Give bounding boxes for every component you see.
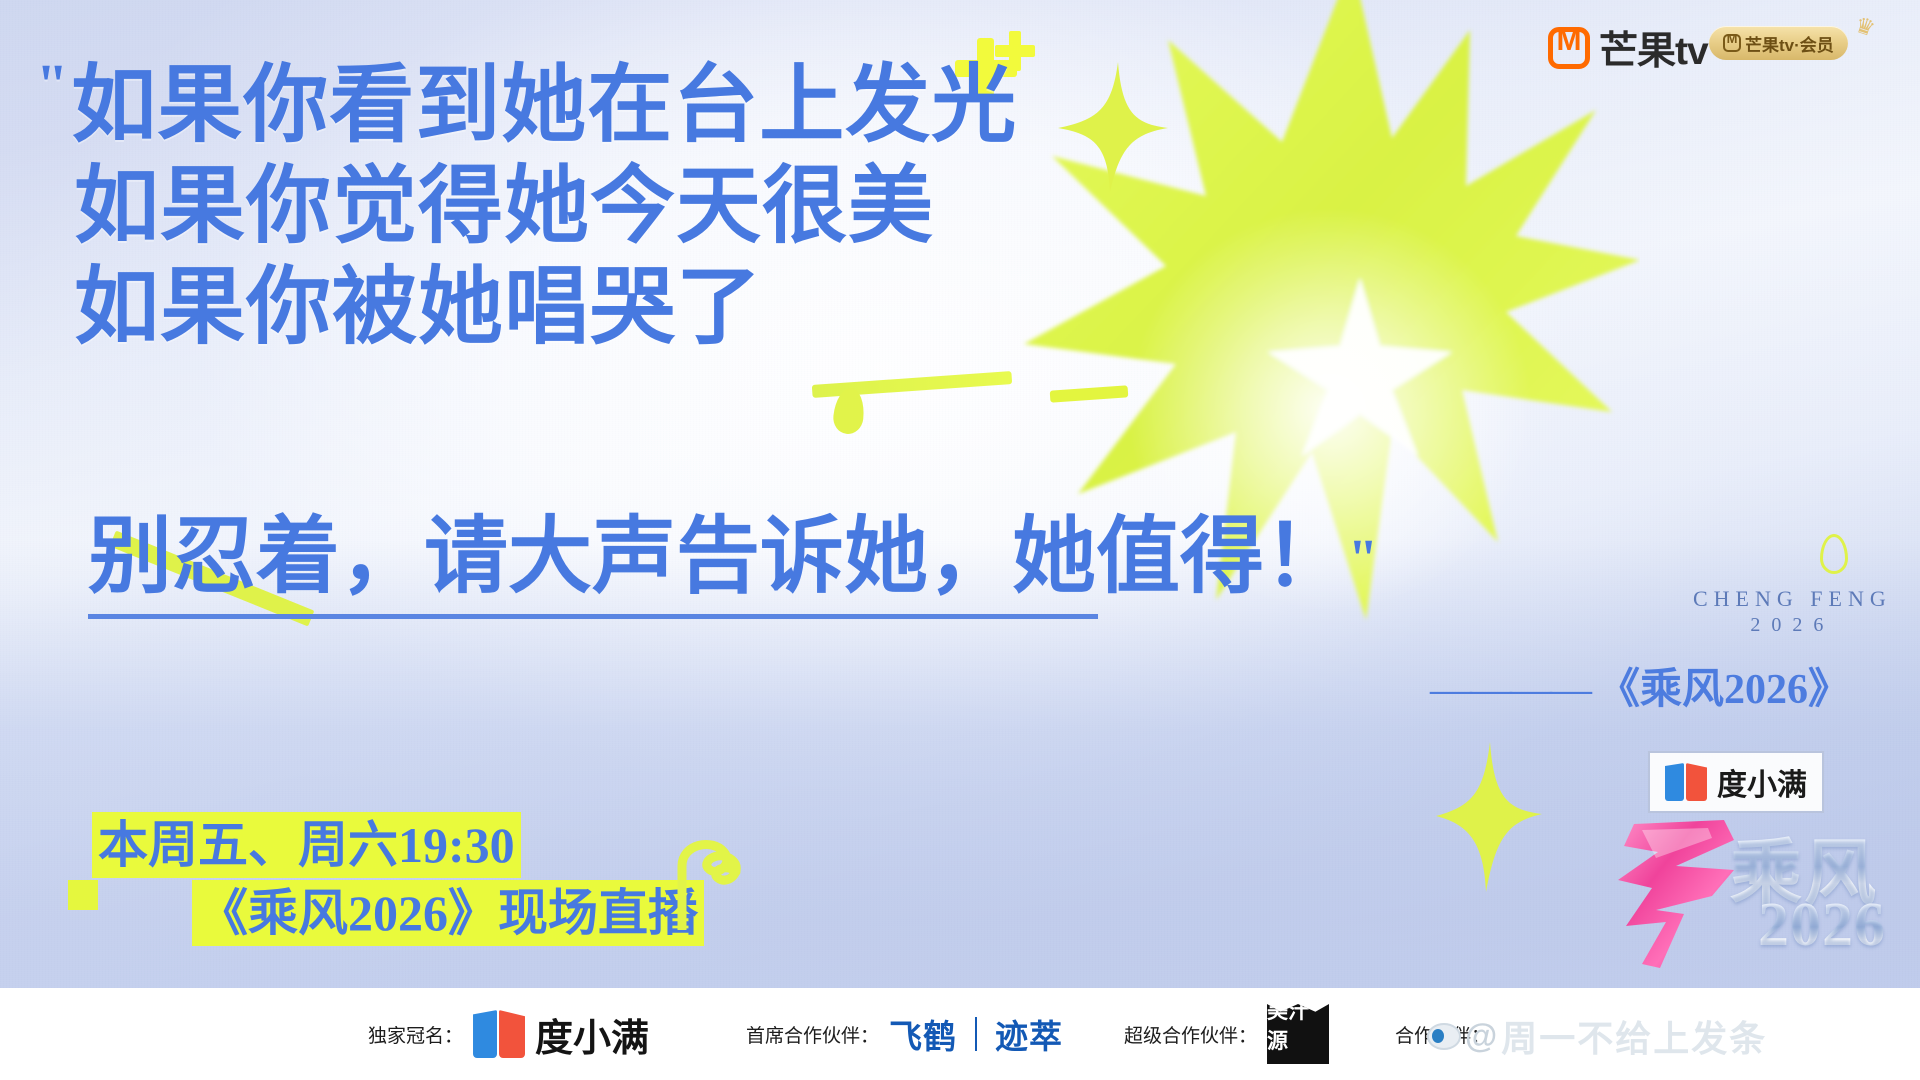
poster-canvas: "如果你看到她在台上发光 如果你觉得她今天很美 如果你被她唱哭了 别忍着，请大声… xyxy=(0,0,1920,1080)
attribution-dash: ———— xyxy=(1430,667,1590,713)
headline-block: "如果你看到她在台上发光 如果你觉得她今天很美 如果你被她唱哭了 xyxy=(36,56,1126,359)
squiggle-doodle-icon xyxy=(672,826,792,930)
mangotv-logo[interactable]: 芒果tv xyxy=(1548,20,1708,76)
duxiaoman-sponsor-badge[interactable]: 度小满 xyxy=(1648,751,1824,813)
show-logo-year: 2026 xyxy=(1758,890,1886,961)
schedule-line-1: 本周五、周六19:30 xyxy=(92,812,521,878)
sponsor-super-brand: 美汁源 xyxy=(1267,995,1329,1064)
sponsor-title-label: 独家冠名： xyxy=(368,1021,463,1048)
weibo-watermark: @ 周一不给上发条 xyxy=(1427,1010,1767,1062)
weibo-handle: 周一不给上发条 xyxy=(1501,1010,1767,1062)
attribution-line: ————《乘风2026》 xyxy=(1430,655,1850,716)
headline-line-1-text: 如果你看到她在台上发光 xyxy=(71,59,1017,153)
minutemaid-logo-icon: 美汁源 xyxy=(1267,1004,1329,1064)
lightning-bolt-icon xyxy=(1612,818,1744,968)
mangotv-vip-badge[interactable]: 芒果tv·会员 xyxy=(1709,26,1848,60)
headline-line-3: 如果你被她唱哭了 xyxy=(36,258,1126,359)
quote-open-mark: " xyxy=(36,52,69,117)
vip-m-mark-icon xyxy=(1723,34,1741,52)
vip-badge-label: 芒果tv·会员 xyxy=(1745,31,1834,56)
weibo-at-sign: @ xyxy=(1465,1017,1497,1055)
headline-punchline-text: 别忍着，请大声告诉她，她值得！ xyxy=(88,511,1348,604)
duxiaoman-book-icon-bar xyxy=(473,1010,525,1058)
attribution-source: 《乘风2026》 xyxy=(1598,667,1850,713)
sponsor-chief-brand: 飞鹤 xyxy=(889,1010,957,1058)
cheng-feng-pinyin-line-1: CHENG FENG xyxy=(1693,586,1892,612)
sponsor-divider xyxy=(975,1017,977,1051)
duxiaoman-badge-label: 度小满 xyxy=(1717,760,1807,804)
sponsor-super-label: 超级合作伙伴： xyxy=(1124,1021,1257,1048)
headline-line-1: "如果你看到她在台上发光 xyxy=(36,56,1126,157)
sponsor-title-brand: 度小满 xyxy=(535,1007,649,1062)
headline-punchline: 别忍着，请大声告诉她，她值得！" xyxy=(88,510,1098,619)
headline-line-2: 如果你觉得她今天很美 xyxy=(36,157,1126,258)
sparkle-star-four-point-bottom-icon xyxy=(1436,742,1546,892)
cheng-feng-pinyin-block: CHENG FENG 2026 xyxy=(1693,586,1892,638)
quote-close-mark: " xyxy=(1348,528,1378,588)
mangotv-wordmark: 芒果tv xyxy=(1599,20,1708,76)
duxiaoman-book-icon xyxy=(1665,763,1707,801)
sponsor-chief-brand-2: 迹萃 xyxy=(995,1010,1063,1058)
sponsor-group-chief[interactable]: 首席合作伙伴： 飞鹤 迹萃 xyxy=(746,1010,1063,1058)
schedule-line-2: 《乘风2026》现场直播 xyxy=(192,880,704,946)
show-logo: 乘风 2026 xyxy=(1612,812,1912,992)
weibo-logo-icon xyxy=(1427,1023,1461,1050)
sponsor-chief-label: 首席合作伙伴： xyxy=(746,1021,879,1048)
sponsor-group-title[interactable]: 独家冠名： 度小满 xyxy=(368,1007,649,1062)
mangotv-m-mark-icon xyxy=(1548,27,1590,69)
sponsor-group-super[interactable]: 超级合作伙伴： 美汁源 xyxy=(1124,1004,1329,1064)
schedule-block: 本周五、周六19:30 《乘风2026》现场直播 xyxy=(92,812,704,946)
cheng-feng-pinyin-line-2: 2026 xyxy=(1693,612,1892,638)
